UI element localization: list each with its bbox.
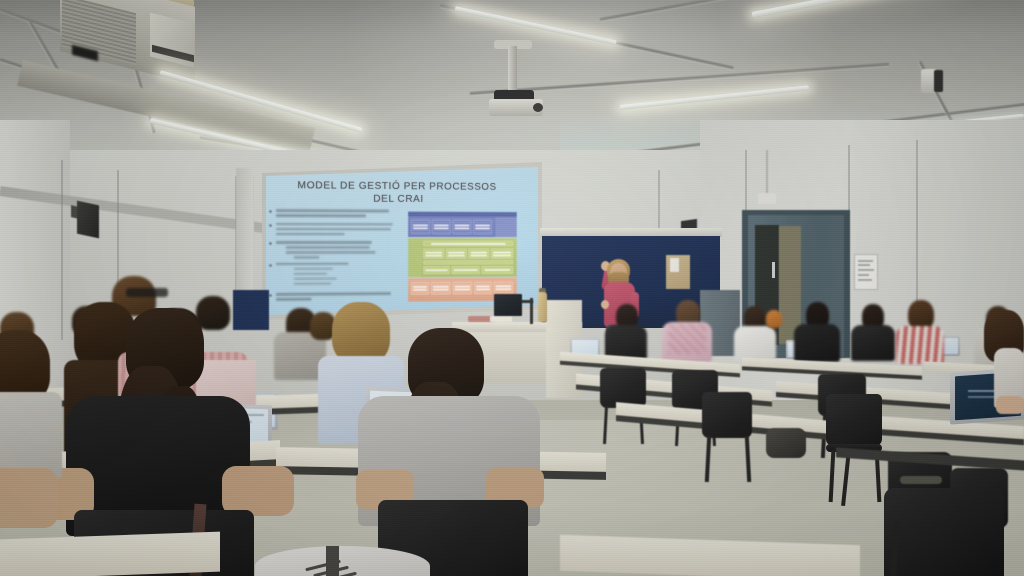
student-arm: [996, 396, 1024, 414]
backpack: [766, 428, 806, 458]
slide-bullet-list: [276, 209, 401, 303]
diagram-box: [411, 219, 430, 234]
diagram-box: [474, 282, 492, 295]
door-handle[interactable]: [772, 262, 775, 278]
diagram-box: [453, 282, 473, 295]
list-item: [276, 209, 401, 217]
wall-junction-box: [758, 193, 776, 204]
student-desk: [0, 532, 220, 576]
whiteboard-navy-left: [233, 290, 269, 330]
desk-papers: [490, 316, 512, 322]
projection-screen[interactable]: MODEL DE GESTIÓ PER PROCESSOS DEL CRAI: [266, 167, 538, 315]
diagram-box: [482, 266, 514, 274]
water-bottle: [538, 292, 547, 322]
diagram-box: [494, 281, 513, 294]
desktop-monitor[interactable]: [494, 294, 522, 316]
ceiling-wire: [766, 150, 768, 194]
diagram-box: [468, 249, 489, 259]
bag-strap: [326, 546, 339, 576]
eyeglasses-icon: [126, 288, 168, 297]
projector-lens-icon: [533, 103, 543, 112]
diagram-box: [473, 220, 492, 235]
monitor-post: [530, 298, 533, 324]
diagram-box: [491, 249, 513, 259]
list-item: [276, 292, 401, 301]
diagram-band-label: [408, 243, 421, 277]
diagram-box: [452, 266, 480, 274]
diagram-box: [411, 282, 429, 295]
presenter-hand: [601, 300, 609, 309]
chair[interactable]: [826, 394, 882, 446]
diagram-box: [446, 249, 467, 259]
projector-pole: [508, 46, 517, 94]
diagram-box: [423, 241, 513, 246]
list-item: [276, 241, 401, 259]
slide-title-line-1: MODEL DE GESTIÓ PER PROCESSOS: [266, 179, 526, 193]
wall-panel-seam: [61, 160, 63, 340]
diagram-box: [423, 266, 449, 274]
backpack-strap: [900, 476, 942, 484]
diagram-side-box: [496, 217, 517, 237]
slide-process-diagram: [408, 212, 517, 302]
slide-title-line-2: DEL CRAI: [266, 192, 526, 206]
chair[interactable]: [884, 488, 1004, 576]
wall-speaker-icon: [77, 201, 99, 239]
list-item: [276, 223, 401, 236]
diagram-box: [432, 220, 451, 235]
chair[interactable]: [702, 392, 752, 438]
student-arm: [222, 466, 294, 516]
fire-alarm-body: [934, 70, 943, 92]
diagram-box: [453, 220, 472, 235]
diagram-box: [423, 260, 513, 264]
diagram-box: [423, 249, 444, 259]
diagram-box: [431, 282, 451, 295]
classroom-photo: MODEL DE GESTIÓ PER PROCESSOS DEL CRAI: [0, 0, 1024, 576]
corkboard-note: [670, 258, 679, 272]
wall-notice: [855, 255, 877, 289]
student-arm: [0, 468, 58, 528]
list-item: [276, 262, 401, 285]
